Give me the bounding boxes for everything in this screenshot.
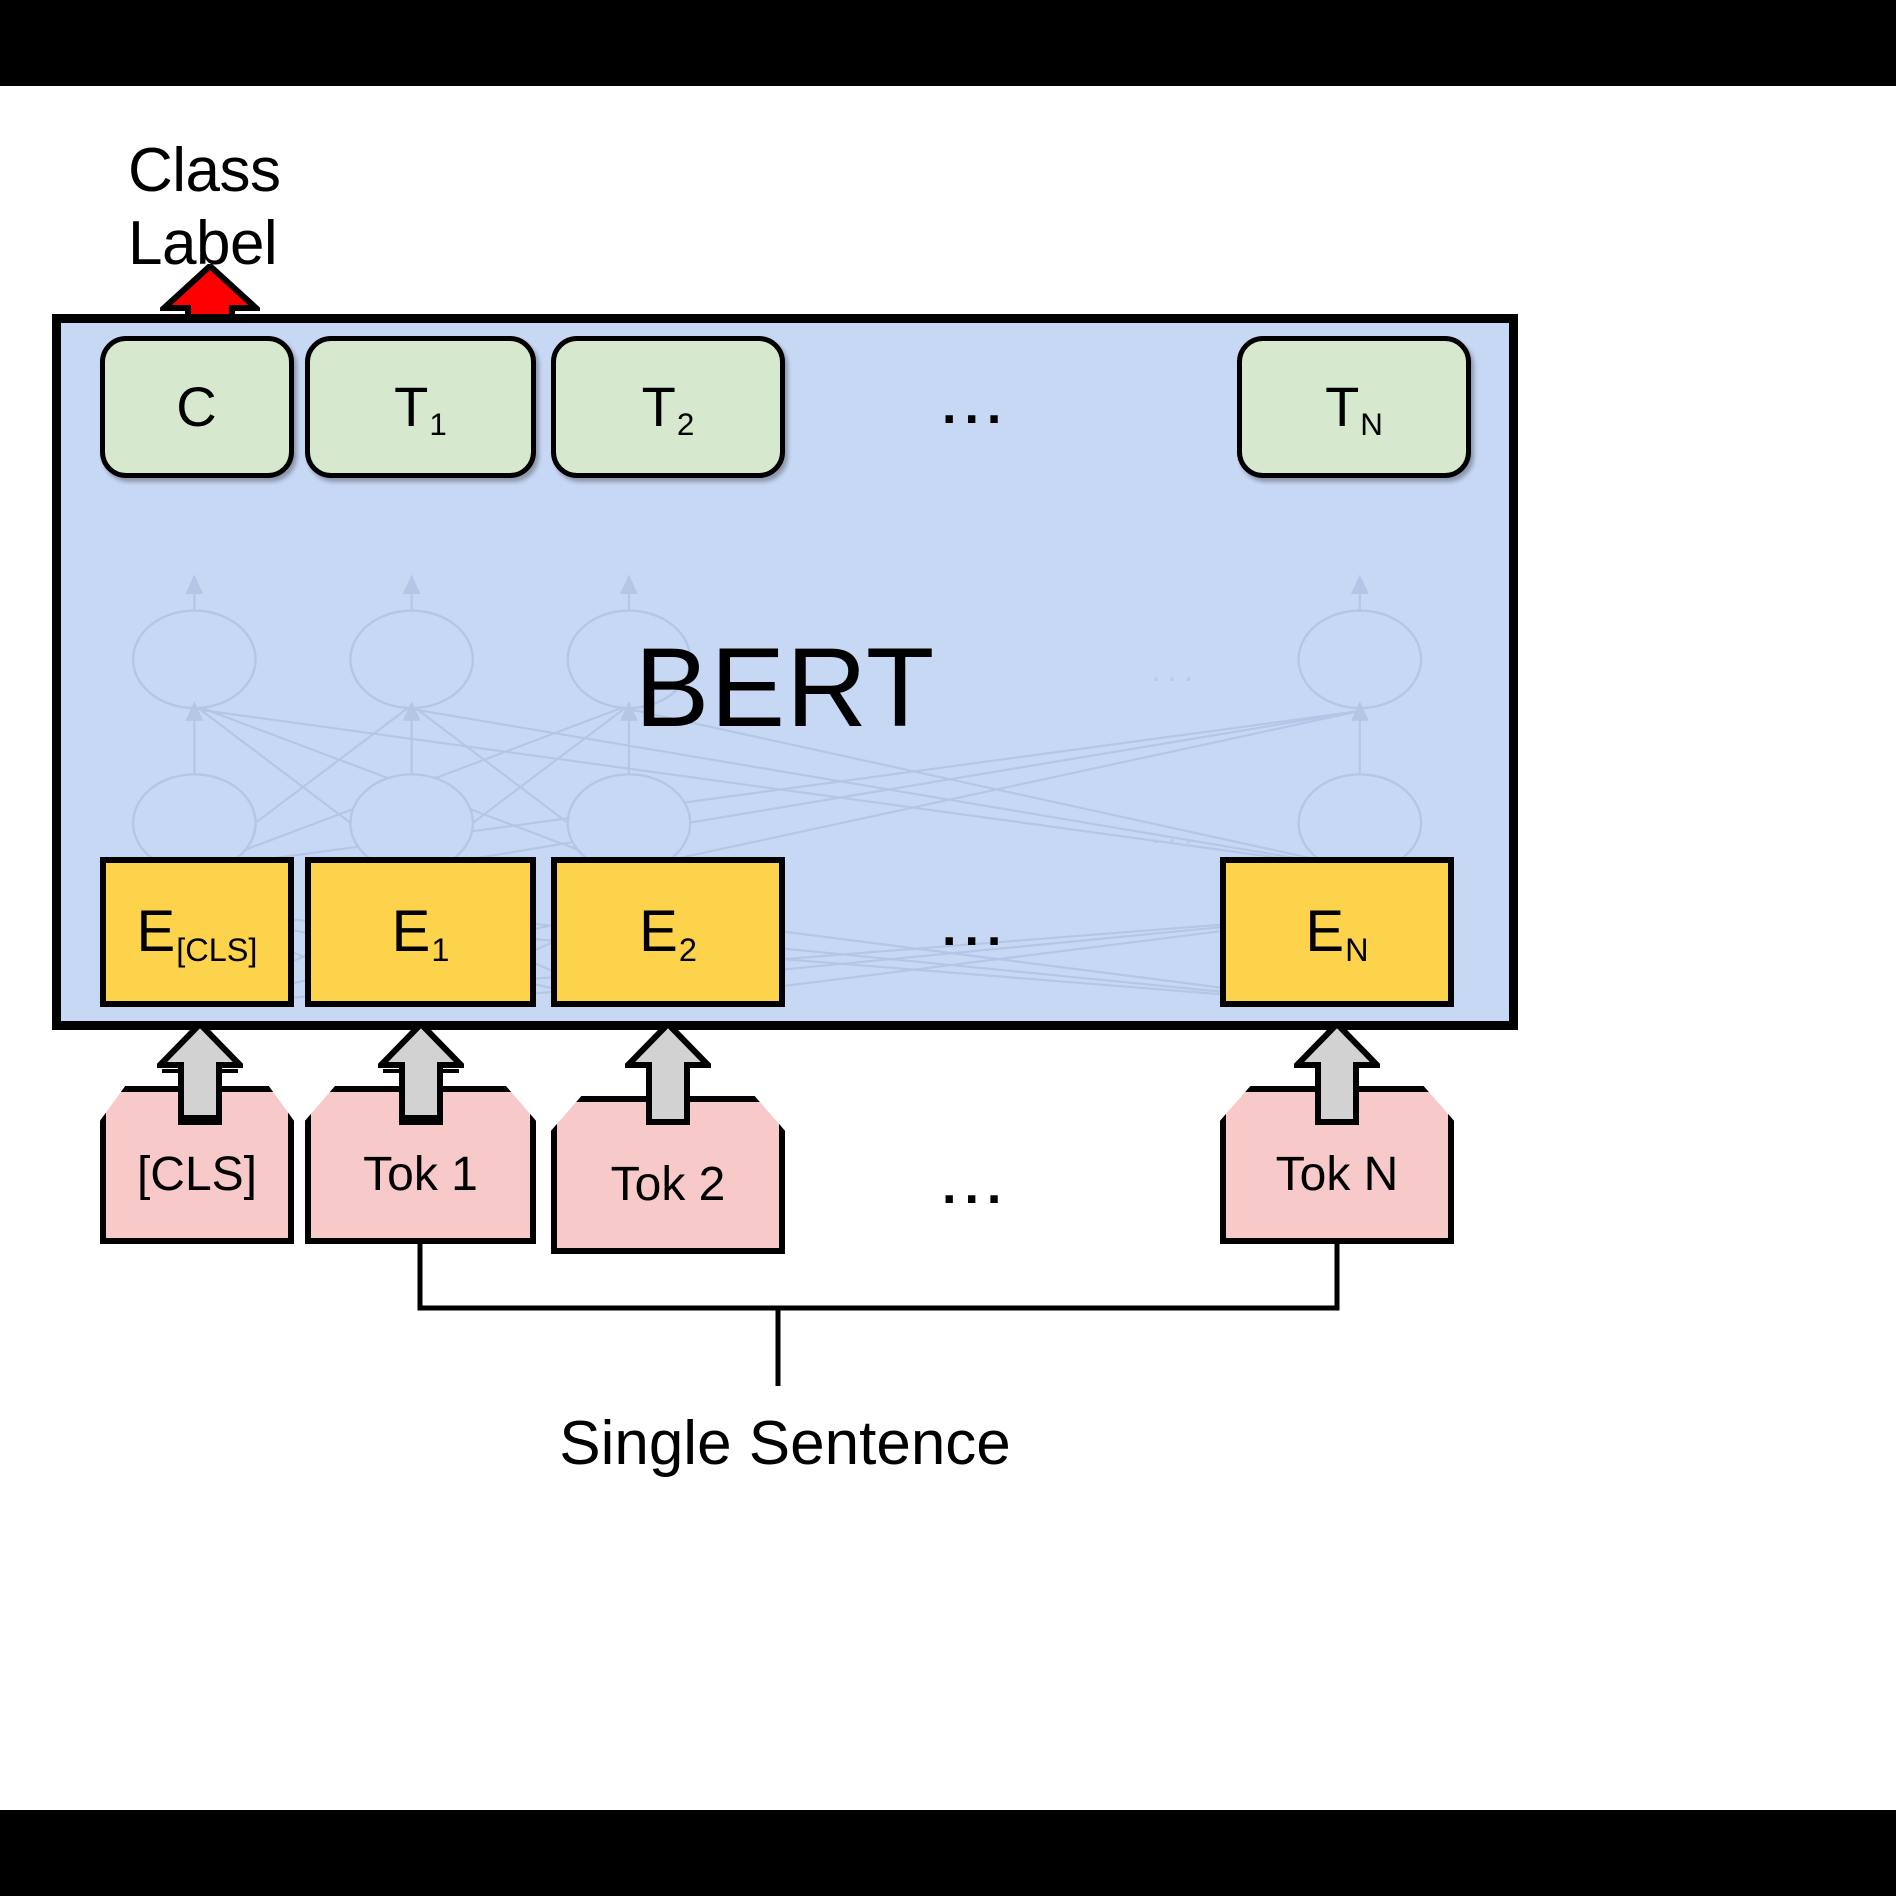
class-label-text: Class Label: [128, 134, 448, 280]
embedding-box-e1[interactable]: E1: [305, 857, 536, 1007]
output-box-tn[interactable]: TN: [1237, 336, 1471, 478]
token-label-tok1: Tok 1: [363, 1147, 478, 1202]
bert-model-name: BERT: [61, 623, 1509, 752]
output-label-tn: TN: [1325, 379, 1383, 435]
token-label-tok2: Tok 2: [611, 1157, 726, 1212]
embedding-label-en: EN: [1305, 903, 1368, 961]
figure-canvas: Class Label: [0, 0, 1896, 1896]
figure-page: Class Label: [0, 86, 1896, 1810]
output-label-c: C: [176, 379, 217, 435]
output-label-t2: T2: [642, 379, 695, 435]
embedding-label-cls: E[CLS]: [137, 903, 258, 961]
output-box-c[interactable]: C: [100, 336, 294, 478]
output-box-t2[interactable]: T2: [551, 336, 785, 478]
input-arrow-icon-tok1: [378, 1021, 464, 1125]
output-box-t1[interactable]: T1: [305, 336, 536, 478]
embedding-box-e2[interactable]: E2: [551, 857, 785, 1007]
input-arrow-icon-tok2: [625, 1021, 711, 1125]
output-row-ellipsis: ...: [942, 376, 1009, 436]
embedding-label-e1: E1: [392, 903, 450, 961]
sentence-bracket: [0, 1236, 1570, 1416]
embedding-label-e2: E2: [639, 903, 697, 961]
bert-inner-ellipsis-lower: ...: [1151, 813, 1200, 852]
embedding-row-ellipsis: ...: [942, 898, 1009, 958]
embedding-box-cls[interactable]: E[CLS]: [100, 857, 294, 1007]
input-arrow-icon-tokn: [1294, 1021, 1380, 1125]
token-row-ellipsis: ...: [942, 1156, 1009, 1216]
embedding-box-en[interactable]: EN: [1220, 857, 1454, 1007]
input-arrow-icon-cls: [157, 1021, 243, 1125]
token-label-cls: [CLS]: [137, 1147, 257, 1202]
output-label-t1: T1: [394, 379, 447, 435]
token-label-tokn: Tok N: [1276, 1147, 1399, 1202]
sentence-caption-text: Single Sentence: [0, 1408, 1570, 1479]
